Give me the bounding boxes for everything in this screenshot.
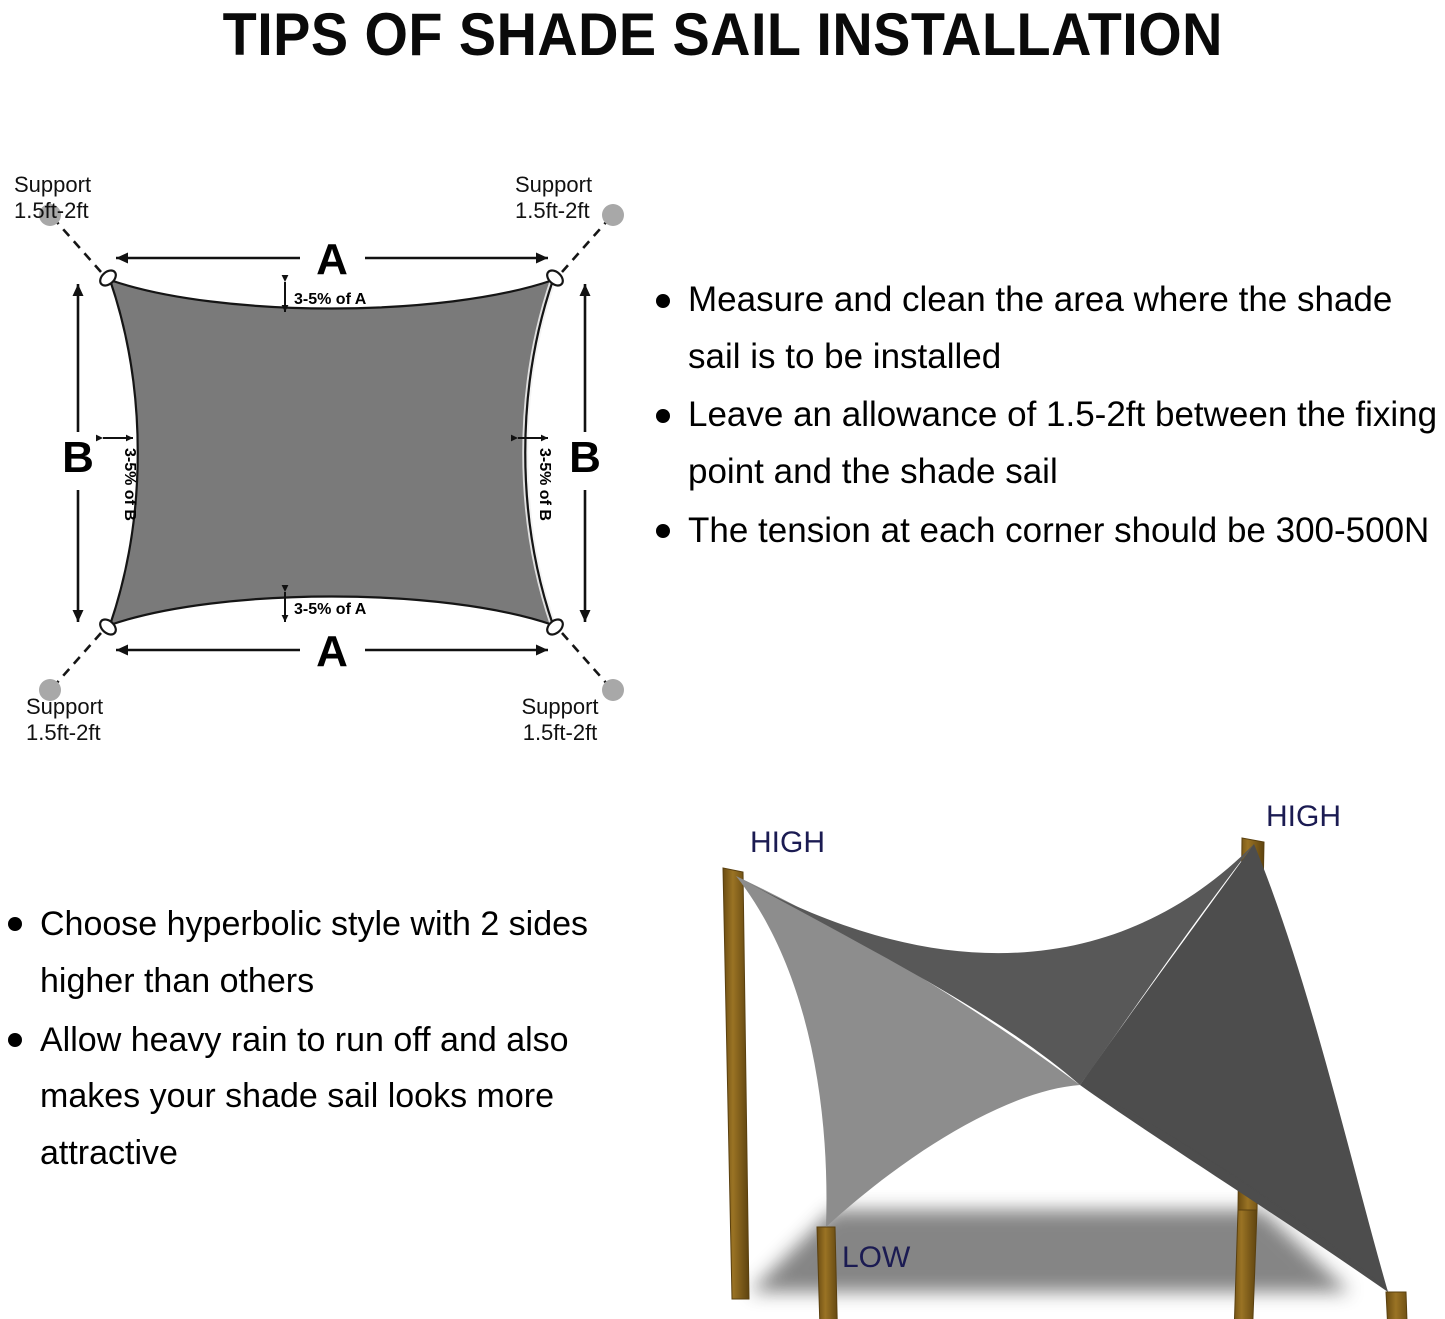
connector-bottom-left <box>55 633 101 685</box>
support-label-tr-line2: 1.5ft-2ft <box>515 198 590 223</box>
label-low-left: LOW <box>842 1241 911 1274</box>
dimension-a-top-label: A <box>316 235 348 284</box>
label-high-right: HIGH <box>1266 800 1341 833</box>
ground-shadow <box>750 1210 1350 1292</box>
support-dot-bottom-right <box>602 679 624 701</box>
dimension-a-bottom-label: A <box>316 627 348 676</box>
curve-b-left-label: 3-5% of B <box>121 448 138 521</box>
page-title: TIPS OF SHADE SAIL INSTALLATION <box>222 5 1222 65</box>
support-label-tl-line2: 1.5ft-2ft <box>14 198 89 223</box>
list-item: Leave an allowance of 1.5-2ft between th… <box>648 387 1445 500</box>
bullet-dot-icon <box>656 409 670 423</box>
curve-b-right-label: 3-5% of B <box>536 448 553 521</box>
support-label-bl-line1: Support <box>26 694 103 719</box>
label-high-left: HIGH <box>750 826 825 859</box>
curve-a-top: 3-5% of A <box>285 282 367 312</box>
tip-text: Allow heavy rain to run off and also mak… <box>40 1012 625 1182</box>
rect-sail-diagram: Support 1.5ft-2ft Support 1.5ft-2ft Supp… <box>0 150 660 750</box>
bullet-dot-icon <box>8 1033 22 1047</box>
connector-top-left <box>55 220 101 272</box>
sail-lobe-light <box>736 876 1080 1227</box>
support-label-tl-line1: Support <box>14 172 91 197</box>
bullet-dot-icon <box>656 524 670 538</box>
list-item: Choose hyperbolic style with 2 sides hig… <box>0 896 625 1010</box>
pole-low-left <box>817 1227 839 1319</box>
tip-text: The tension at each corner should be 300… <box>688 503 1445 560</box>
support-dot-top-right <box>602 204 624 226</box>
dimension-a-top: A <box>116 235 548 284</box>
connector-bottom-right <box>562 633 608 685</box>
support-label-bl-line2: 1.5ft-2ft <box>26 720 101 745</box>
dimension-b-left: B <box>62 284 94 622</box>
support-label-br-line2: 1.5ft-2ft <box>523 720 598 745</box>
dimension-b-left-label: B <box>62 433 94 482</box>
connector-top-right <box>562 220 608 272</box>
hyperbolic-sail-diagram: HIGH HIGH LOW LOW <box>650 780 1445 1319</box>
list-item: Allow heavy rain to run off and also mak… <box>0 1012 625 1182</box>
tip-text: Leave an allowance of 1.5-2ft between th… <box>688 387 1445 500</box>
pole-low-right <box>1386 1292 1412 1319</box>
curve-a-bottom-label: 3-5% of A <box>294 601 367 618</box>
list-item: Measure and clean the area where the sha… <box>648 272 1445 385</box>
list-item: The tension at each corner should be 300… <box>648 503 1445 560</box>
dimension-b-right-label: B <box>569 433 601 482</box>
dimension-a-bottom: A <box>116 627 548 676</box>
hyperbolic-tips-list: Choose hyperbolic style with 2 sides hig… <box>0 896 625 1184</box>
installation-tips-list: Measure and clean the area where the sha… <box>648 272 1445 561</box>
dimension-b-right: B <box>569 284 601 622</box>
curve-b-left: 3-5% of B <box>103 438 138 521</box>
sail-shape <box>110 280 553 625</box>
support-label-br-line1: Support <box>521 694 598 719</box>
bullet-dot-icon <box>656 294 670 308</box>
bullet-dot-icon <box>8 917 22 931</box>
tip-text: Choose hyperbolic style with 2 sides hig… <box>40 896 625 1010</box>
curve-a-top-label: 3-5% of A <box>294 291 367 308</box>
page-title-bar: TIPS OF SHADE SAIL INSTALLATION <box>0 0 1445 70</box>
pole-high-left <box>723 868 749 1299</box>
tip-text: Measure and clean the area where the sha… <box>688 272 1445 385</box>
support-label-tr-line1: Support <box>515 172 592 197</box>
